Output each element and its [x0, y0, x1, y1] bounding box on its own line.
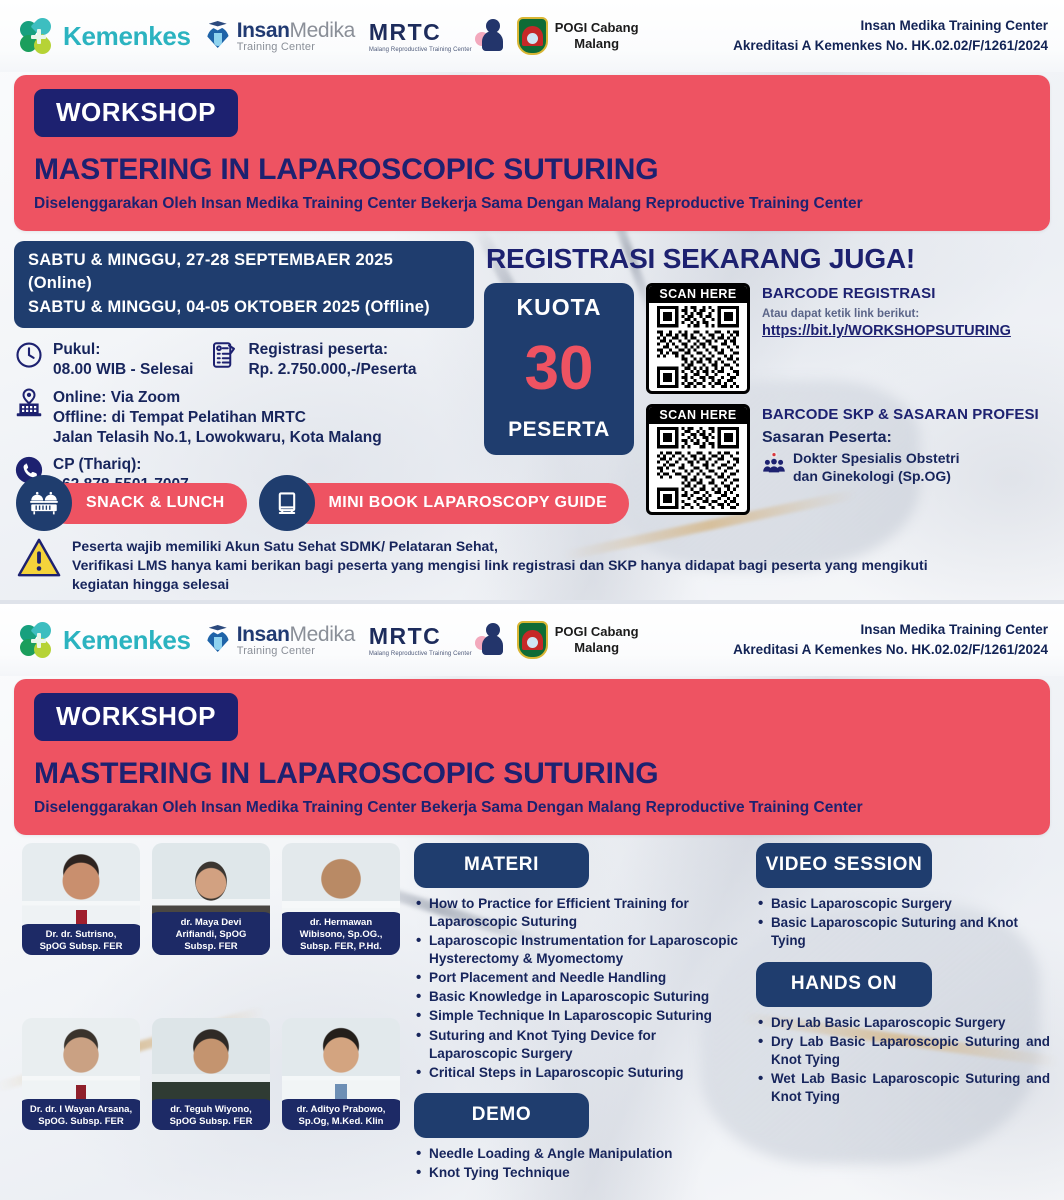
kemenkes-wordmark: Kemenkes [63, 21, 191, 52]
page-title-2: MASTERING IN LAPAROSCOPIC SUTURING [34, 757, 1030, 791]
time-value: 08.00 WIB - Selesai [53, 360, 193, 380]
materi-column: MATERI How to Practice for Efficient Tra… [414, 843, 744, 1183]
insan-medika-logo: InsanMedika Training Center [205, 20, 355, 53]
accreditation-line-2: Akreditasi A Kemenkes No. HK.02.02/F/126… [733, 36, 1048, 56]
pogi-line1: POGI Cabang [555, 20, 639, 36]
list-item: Needle Loading & Angle Manipulation [416, 1145, 744, 1163]
workshop-chip-2: WORKSHOP [34, 693, 238, 741]
insan-medika-logo-2: InsanMedika Training Center [205, 624, 355, 657]
speaker-card: dr. Adityo Prabowo, Sp.Og, M.Ked. Klin [282, 1018, 400, 1130]
accreditation-block-2: Insan Medika Training Center Akreditasi … [733, 620, 1048, 659]
video-session-heading: VIDEO SESSION [756, 843, 932, 888]
speaker-card: dr. Hermawan Wibisono, Sp.OG., Subsp. FE… [282, 843, 400, 955]
top-header-bar: Kemenkes InsanMedika Training Center MRT… [0, 0, 1064, 72]
warning-triangle-icon [16, 537, 62, 584]
speaker-name: dr. Teguh Wiyono, SpOG Subsp. FER [152, 1099, 270, 1130]
qr-scan-label-2: SCAN HERE [649, 407, 747, 424]
materi-list: How to Practice for Efficient Training f… [416, 895, 744, 1082]
list-item: Simple Technique In Laparoscopic Suturin… [416, 1007, 744, 1025]
speaker-card: dr. Teguh Wiyono, SpOG Subsp. FER [152, 1018, 270, 1130]
insan-name-bold-2: Insan [237, 623, 290, 646]
kemenkes-flower-icon [20, 18, 56, 54]
qr-registration-meta: BARCODE REGISTRASI Atau dapat ketik link… [762, 283, 1011, 340]
mrtc-wordmark-2: MRTC [369, 625, 472, 648]
accreditation-line-1-copy: Insan Medika Training Center [733, 620, 1048, 640]
venue-info-text: Online: Via Zoom Offline: di Tempat Pela… [53, 388, 382, 447]
kemenkes-flower-icon-2 [20, 622, 56, 658]
perk-mini-book-label: MINI BOOK LAPAROSCOPY GUIDE [289, 483, 630, 524]
target-line-1: Dokter Spesialis Obstetri [793, 450, 960, 468]
warning-line-1: Peserta wajib memiliki Akun Satu Sehat S… [72, 537, 928, 556]
location-building-icon [14, 388, 44, 418]
insan-heart-graduate-icon-2 [205, 624, 231, 656]
clock-icon [14, 340, 44, 370]
poster-page: Kemenkes InsanMedika Training Center MRT… [0, 0, 1064, 1200]
demo-list: Needle Loading & Angle Manipulation Knot… [416, 1145, 744, 1182]
qr-registration-card[interactable]: SCAN HERE [646, 283, 750, 394]
list-item: Basic Laparoscopic Suturing and Knot Tyi… [758, 914, 1050, 950]
insan-name-light-2: Medika [290, 623, 355, 646]
target-participants-heading: Sasaran Peserta: [762, 429, 1039, 447]
list-item: Basic Knowledge in Laparoscopic Suturing [416, 988, 744, 1006]
qr-skp-title: BARCODE SKP & SASARAN PROFESI [762, 406, 1039, 423]
speaker-name: dr. Maya Devi Arifiandi, SpOG Subsp. FER [152, 912, 270, 955]
insan-wordmark: InsanMedika Training Center [237, 20, 355, 53]
title-banner-2: WORKSHOP MASTERING IN LAPAROSCOPIC SUTUR… [14, 679, 1050, 835]
speaker-name: Dr. dr. Sutrisno, SpOG Subsp. FER [22, 924, 140, 955]
mrtc-tagline-2: Malang Reproductive Training Center [369, 651, 472, 657]
perk-snack-lunch: SNACK & LUNCH [16, 475, 247, 531]
speaker-name: dr. Adityo Prabowo, Sp.Og, M.Ked. Klin [282, 1099, 400, 1130]
quota-label-top: KUOTA [516, 294, 601, 321]
list-item: Basic Laparoscopic Surgery [758, 895, 1050, 913]
poster-top: Kemenkes InsanMedika Training Center MRT… [0, 0, 1064, 600]
speaker-name: dr. Hermawan Wibisono, Sp.OG., Subsp. FE… [282, 912, 400, 955]
registration-form-icon [209, 340, 239, 370]
kemenkes-logo: Kemenkes [20, 18, 191, 54]
insan-name-bold: Insan [237, 19, 290, 42]
list-item: Dry Lab Basic Laparoscopic Surgery [758, 1014, 1050, 1032]
qr-registration-block: SCAN HERE [646, 283, 1039, 394]
quota-card: KUOTA 30 PESERTA [484, 283, 634, 455]
venue-line-2: Offline: di Tempat Pelatihan MRTC [53, 408, 382, 428]
fee-info-text: Registrasi peserta: Rp. 2.750.000,-/Pese… [248, 340, 416, 380]
date-banner: SABTU & MINGGU, 27-28 SEPTEMBAER 2025 (O… [14, 241, 474, 328]
date-line-1: SABTU & MINGGU, 27-28 SEPTEMBAER 2025 (O… [28, 249, 460, 296]
speaker-name: Dr. dr. I Wayan Arsana, SpOG. Subsp. FER [22, 1099, 140, 1130]
pogi-shield-icon-2 [517, 621, 548, 659]
fee-value: Rp. 2.750.000,-/Peserta [248, 360, 416, 380]
list-item: Laparoscopic Instrumentation for Laparos… [416, 932, 744, 968]
qr-code-registration[interactable] [649, 303, 747, 391]
insan-tagline-2: Training Center [237, 646, 355, 657]
registration-heading: REGISTRASI SEKARANG JUGA! [486, 243, 1050, 275]
time-info-text: Pukul: 08.00 WIB - Selesai [53, 340, 193, 380]
list-item: Port Placement and Needle Handling [416, 969, 744, 987]
page-title: MASTERING IN LAPAROSCOPIC SUTURING [34, 153, 1030, 187]
food-cloche-icon [16, 475, 72, 531]
kemenkes-logo-2: Kemenkes [20, 622, 191, 658]
speaker-card: Dr. dr. Sutrisno, SpOG Subsp. FER [22, 843, 140, 955]
logo-group: Kemenkes InsanMedika Training Center MRT… [20, 17, 639, 55]
qr-scan-label-1: SCAN HERE [649, 286, 747, 303]
warning-line-2: Verifikasi LMS hanya kami berikan bagi p… [72, 556, 928, 575]
speaker-card: Dr. dr. I Wayan Arsana, SpOG. Subsp. FER [22, 1018, 140, 1130]
registration-link[interactable]: https://bit.ly/WORKSHOPSUTURING [762, 323, 1011, 339]
time-info-row: Pukul: 08.00 WIB - Selesai [14, 340, 193, 380]
page-subtitle: Diselenggarakan Oleh Insan Medika Traini… [34, 195, 1030, 213]
speaker-card: dr. Maya Devi Arifiandi, SpOG Subsp. FER [152, 843, 270, 955]
materi-heading: MATERI [414, 843, 589, 888]
pogi-logo: POGI Cabang Malang [517, 17, 639, 55]
list-item: Dry Lab Basic Laparoscopic Suturing and … [758, 1033, 1050, 1069]
demo-heading: DEMO [414, 1093, 589, 1138]
mrtc-figure-icon-2 [475, 623, 503, 657]
list-item: Suturing and Knot Tying Device for Lapar… [416, 1027, 744, 1063]
logo-group-2: Kemenkes InsanMedika Training Center MRT… [20, 621, 639, 659]
pogi-shield-icon [517, 17, 548, 55]
accreditation-block: Insan Medika Training Center Akreditasi … [733, 16, 1048, 55]
list-item: Knot Tying Technique [416, 1164, 744, 1182]
list-item: Critical Steps in Laparoscopic Suturing [416, 1064, 744, 1082]
venue-line-1: Online: Via Zoom [53, 388, 382, 408]
time-label: Pukul: [53, 340, 193, 360]
pogi-label: POGI Cabang Malang [555, 20, 639, 53]
poster-bottom-body: Dr. dr. Sutrisno, SpOG Subsp. FER dr. Ma… [0, 835, 1064, 1183]
warning-text: Peserta wajib memiliki Akun Satu Sehat S… [72, 537, 928, 594]
quota-label-bottom: PESERTA [508, 418, 610, 442]
title-banner: WORKSHOP MASTERING IN LAPAROSCOPIC SUTUR… [14, 75, 1050, 231]
venue-info-row: Online: Via Zoom Offline: di Tempat Pela… [14, 388, 474, 447]
pogi-line1-2: POGI Cabang [555, 624, 639, 640]
insan-wordmark-2: InsanMedika Training Center [237, 624, 355, 657]
venue-line-3: Jalan Telasih No.1, Lowokwaru, Kota Mala… [53, 428, 382, 448]
mrtc-tagline: Malang Reproductive Training Center [369, 47, 472, 53]
pogi-logo-2: POGI Cabang Malang [517, 621, 639, 659]
workshop-chip: WORKSHOP [34, 89, 238, 137]
quota-number: 30 [525, 343, 594, 396]
fee-info-row: Registrasi peserta: Rp. 2.750.000,-/Pese… [209, 340, 416, 380]
insan-name-light: Medika [290, 19, 355, 42]
speaker-grid: Dr. dr. Sutrisno, SpOG Subsp. FER dr. Ma… [22, 843, 402, 1183]
qr-registration-title: BARCODE REGISTRASI [762, 285, 1011, 302]
poster-bottom: Kemenkes InsanMedika Training Center MRT… [0, 604, 1064, 1200]
video-session-list: Basic Laparoscopic Surgery Basic Laparos… [758, 895, 1050, 949]
mrtc-wordmark: MRTC [369, 21, 472, 44]
mrtc-logo: MRTC Malang Reproductive Training Center [369, 19, 503, 53]
qr-registration-note: Atau dapat ketik link berikut: [762, 308, 1011, 320]
bottom-header-bar: Kemenkes InsanMedika Training Center MRT… [0, 604, 1064, 676]
date-line-2: SABTU & MINGGU, 04-05 OKTOBER 2025 (Offl… [28, 296, 460, 319]
accreditation-line-2-copy: Akreditasi A Kemenkes No. HK.02.02/F/126… [733, 640, 1048, 660]
page-subtitle-2: Diselenggarakan Oleh Insan Medika Traini… [34, 799, 1030, 817]
hands-on-heading: HANDS ON [756, 962, 932, 1007]
pogi-label-2: POGI Cabang Malang [555, 624, 639, 657]
list-item: How to Practice for Efficient Training f… [416, 895, 744, 931]
list-item: Wet Lab Basic Laparoscopic Suturing and … [758, 1070, 1050, 1106]
video-handson-column: VIDEO SESSION Basic Laparoscopic Surgery… [756, 843, 1050, 1183]
kemenkes-wordmark-2: Kemenkes [63, 625, 191, 656]
warning-row: Peserta wajib memiliki Akun Satu Sehat S… [0, 531, 1064, 594]
perk-snack-lunch-label: SNACK & LUNCH [46, 483, 247, 524]
insan-heart-graduate-icon [205, 20, 231, 52]
perks-row: SNACK & LUNCH MINI BOOK LAPAROSCOPY GUID… [0, 471, 1064, 531]
accreditation-line-1: Insan Medika Training Center [733, 16, 1048, 36]
pogi-line2: Malang [555, 36, 639, 52]
book-icon [259, 475, 315, 531]
warning-line-3: kegiatan hingga selesai [72, 575, 928, 594]
perk-mini-book: MINI BOOK LAPAROSCOPY GUIDE [259, 475, 630, 531]
hands-on-list: Dry Lab Basic Laparoscopic Surgery Dry L… [758, 1014, 1050, 1105]
insan-tagline: Training Center [237, 42, 355, 53]
mrtc-figure-icon [475, 19, 503, 53]
pogi-line2-2: Malang [555, 640, 639, 656]
fee-label: Registrasi peserta: [248, 340, 416, 360]
mrtc-logo-2: MRTC Malang Reproductive Training Center [369, 623, 503, 657]
